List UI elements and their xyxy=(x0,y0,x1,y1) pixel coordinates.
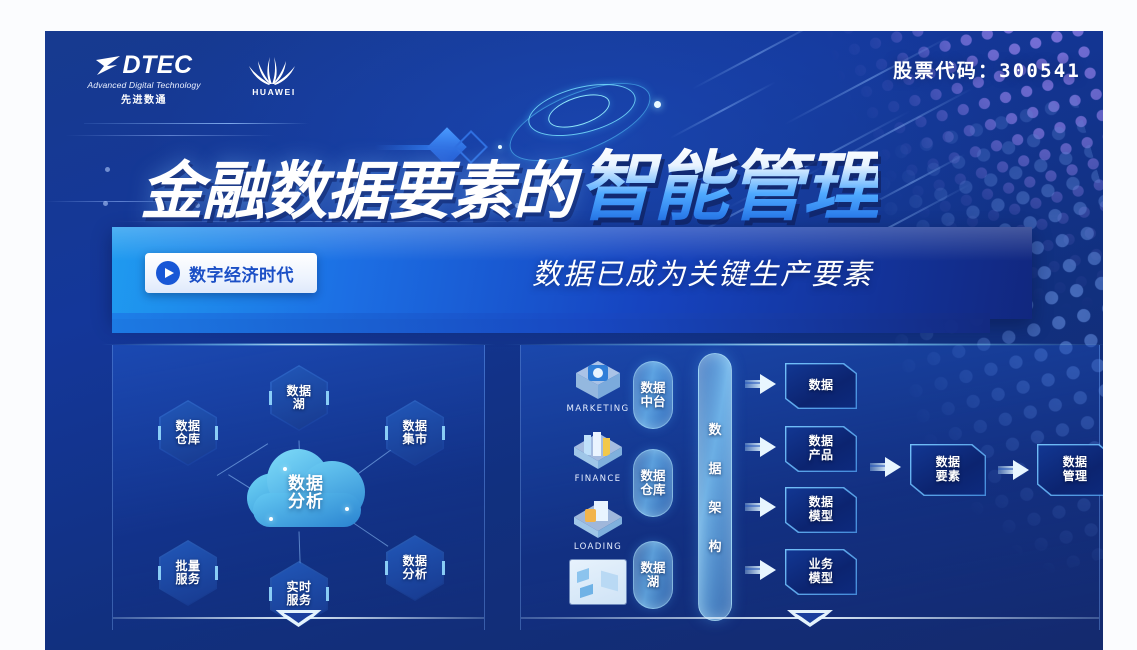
arch-char-2: 据 xyxy=(708,458,721,477)
platform-label: 数据 湖 xyxy=(640,561,665,589)
page-title-part-2: 智能管理 xyxy=(578,142,878,231)
cloud-sparkle-1 xyxy=(283,467,287,471)
hex-tick-left xyxy=(385,426,388,440)
platform-label: 数据 中台 xyxy=(640,381,665,409)
page-title: 金融数据要素的智能管理 xyxy=(140,149,878,225)
arch-char-1: 数 xyxy=(708,419,721,438)
architecture-bar[interactable]: 数 据 架 构 xyxy=(698,353,732,621)
banner-step xyxy=(112,313,990,333)
arrow-to-output-3 xyxy=(745,497,775,517)
panel-footer xyxy=(113,610,484,632)
source-label: FINANCE xyxy=(559,474,637,484)
node-label: 数据 仓库 xyxy=(175,420,200,447)
output-label: 数据 xyxy=(809,379,834,393)
dtec-logo: DTEC Advanced Digital Technology 先进数通 xyxy=(84,53,204,106)
dtec-wordmark: DTEC xyxy=(122,53,192,78)
arrow-tail xyxy=(745,503,762,511)
arrow-head xyxy=(760,374,776,394)
thumb-shape-3 xyxy=(601,571,618,592)
thumb-shape-1 xyxy=(577,568,589,583)
hex-tick-left xyxy=(269,391,272,405)
node-data-mart[interactable]: 数据 集市 xyxy=(386,400,444,466)
source-label: LOADING xyxy=(559,542,637,552)
arrow-tail xyxy=(745,443,762,451)
arch-char-3: 架 xyxy=(708,497,721,516)
arrow-tail xyxy=(870,463,887,471)
hex-tick-left xyxy=(158,566,161,580)
source-finance[interactable]: FINANCE xyxy=(559,429,637,484)
node-label: 数据 集市 xyxy=(402,420,427,447)
hex-tick-right xyxy=(442,561,445,575)
loading-box-icon xyxy=(570,497,626,541)
cloud-sparkle-2 xyxy=(269,517,273,521)
platform-data-midend[interactable]: 数据 中台 xyxy=(633,361,673,429)
arrow-tail xyxy=(745,380,762,388)
final-label: 数据 要素 xyxy=(936,456,961,483)
output-data-product[interactable]: 数据 产品 xyxy=(785,426,857,472)
arch-char-4: 构 xyxy=(708,536,721,555)
node-label: 实时 服务 xyxy=(286,581,311,608)
slide-canvas: DTEC Advanced Digital Technology 先进数通 HU… xyxy=(45,31,1103,650)
final-label: 数据 管理 xyxy=(1063,456,1088,483)
source-label: MARKETING xyxy=(559,404,637,414)
cloud-data-analysis[interactable]: 数据 分析 xyxy=(247,445,365,529)
panel-data-architecture: MARKETING FINANCE xyxy=(520,345,1100,630)
bg-streak-1 xyxy=(65,135,275,136)
section-banner: 数字经济时代 数据已成为关键生产要素 xyxy=(112,227,1032,319)
arrow-to-output-4 xyxy=(745,560,775,580)
source-thumbnail[interactable] xyxy=(570,560,626,604)
node-data-lake[interactable]: 数据 湖 xyxy=(270,365,328,431)
arrow-tail xyxy=(998,466,1015,474)
stock-code: 股票代码：300541 xyxy=(893,56,1081,83)
node-label: 数据 湖 xyxy=(286,385,311,412)
panel-footer xyxy=(521,610,1099,632)
header-divider xyxy=(84,123,309,124)
bg-dot-2 xyxy=(103,201,108,206)
output-data[interactable]: 数据 xyxy=(785,363,857,409)
node-label: 数据 分析 xyxy=(402,555,427,582)
dtec-chinese-name: 先进数通 xyxy=(84,91,204,106)
arrow-head xyxy=(760,560,776,580)
dtec-swoosh-icon xyxy=(95,55,121,77)
huawei-wordmark: HUAWEI xyxy=(242,87,306,97)
output-business-model[interactable]: 业务 模型 xyxy=(785,549,857,595)
source-loading[interactable]: LOADING xyxy=(559,497,637,552)
thumb-shape-2 xyxy=(580,584,593,598)
arrow-head xyxy=(885,457,901,477)
hex-tick-right xyxy=(442,426,445,440)
bg-dot-1 xyxy=(105,167,110,172)
output-label: 业务 模型 xyxy=(809,558,834,585)
platform-data-warehouse[interactable]: 数据 仓库 xyxy=(633,449,673,517)
node-data-analysis[interactable]: 数据 分析 xyxy=(386,535,444,601)
logo-group: DTEC Advanced Digital Technology 先进数通 HU… xyxy=(84,53,306,106)
banner-headline: 数据已成为关键生产要素 xyxy=(532,251,873,293)
arrow-to-output-2 xyxy=(745,437,775,457)
arrow-tail xyxy=(745,566,762,574)
huawei-flower-icon xyxy=(242,55,302,85)
arrow-head xyxy=(1013,460,1029,480)
arrow-head xyxy=(760,497,776,517)
arrow-to-final-1 xyxy=(870,457,900,477)
huawei-logo: HUAWEI xyxy=(242,53,306,97)
output-label: 数据 模型 xyxy=(809,496,834,523)
page-title-part-1: 金融数据要素的 xyxy=(140,155,574,228)
panel-data-analysis: 数据 仓库 数据 湖 数据 集市 xyxy=(112,345,485,630)
output-label: 数据 产品 xyxy=(809,435,834,462)
arrow-to-final-2 xyxy=(998,460,1028,480)
platform-label: 数据 仓库 xyxy=(640,469,665,497)
arrow-to-output-1 xyxy=(745,374,775,394)
dtec-tagline: Advanced Digital Technology xyxy=(84,80,204,90)
final-data-governance[interactable]: 数据 管理 xyxy=(1037,444,1103,496)
hex-tick-right xyxy=(326,587,329,601)
node-batch-service[interactable]: 批量 服务 xyxy=(159,540,217,606)
hex-tick-left xyxy=(269,587,272,601)
cloud-sparkle-3 xyxy=(345,507,349,511)
node-label: 批量 服务 xyxy=(175,560,200,587)
section-tag[interactable]: 数字经济时代 xyxy=(145,253,317,293)
play-icon xyxy=(156,261,180,285)
finance-chart-icon xyxy=(570,429,626,473)
marketing-cube-icon xyxy=(570,359,626,403)
section-tag-label: 数字经济时代 xyxy=(189,261,294,286)
output-data-model[interactable]: 数据 模型 xyxy=(785,487,857,533)
hex-tick-right xyxy=(215,426,218,440)
hex-tick-left xyxy=(158,426,161,440)
final-data-element[interactable]: 数据 要素 xyxy=(910,444,986,496)
orbit-node-large xyxy=(654,101,661,108)
hex-tick-right xyxy=(215,566,218,580)
cloud-label: 数据 分析 xyxy=(247,445,365,529)
source-marketing[interactable]: MARKETING xyxy=(559,359,637,414)
platform-data-lake[interactable]: 数据 湖 xyxy=(633,541,673,609)
node-data-warehouse[interactable]: 数据 仓库 xyxy=(159,400,217,466)
hex-tick-left xyxy=(385,561,388,575)
hex-tick-right xyxy=(326,391,329,405)
arrow-head xyxy=(760,437,776,457)
